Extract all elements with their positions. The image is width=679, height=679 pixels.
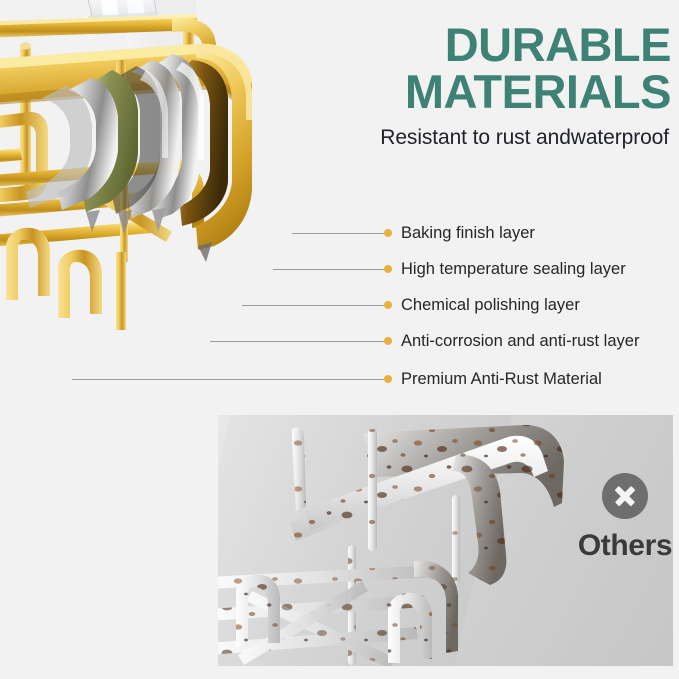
leader-line (210, 341, 385, 342)
bullet-dot-icon (384, 229, 392, 237)
bullet-dot-icon (384, 265, 392, 273)
callout-label: Anti-corrosion and anti-rust layer (401, 332, 639, 351)
callout-item: Baking finish layer (292, 222, 535, 244)
callout-label: Baking finish layer (401, 224, 535, 243)
leader-line (242, 305, 385, 306)
title-line-2: MATERIALS (251, 69, 671, 116)
leader-line (273, 269, 385, 270)
callout-label: High temperature sealing layer (401, 260, 626, 279)
bullet-dot-icon (384, 337, 392, 345)
callout-item: Chemical polishing layer (242, 294, 580, 316)
callout-item: Anti-corrosion and anti-rust layer (210, 330, 639, 352)
callout-item: High temperature sealing layer (273, 258, 626, 280)
leader-line (292, 233, 385, 234)
bullet-dot-icon (384, 301, 392, 309)
page-title: DURABLE MATERIALS (251, 22, 671, 115)
x-circle-icon (602, 473, 648, 519)
infographic-canvas: DURABLE MATERIALS Resistant to rust andw… (0, 0, 679, 679)
bullet-dot-icon (384, 375, 392, 383)
callout-item: Premium Anti-Rust Material (72, 368, 602, 390)
title-line-1: DURABLE (251, 22, 671, 69)
page-subtitle: Resistant to rust andwaterproof (199, 126, 669, 150)
others-label: Others (570, 529, 673, 563)
callout-label: Chemical polishing layer (401, 296, 580, 315)
leader-line (72, 379, 385, 380)
others-badge: Others (570, 473, 673, 563)
comparison-panel-others: Others (218, 415, 673, 666)
callout-label: Premium Anti-Rust Material (401, 370, 602, 389)
rusty-front-band (304, 425, 564, 531)
